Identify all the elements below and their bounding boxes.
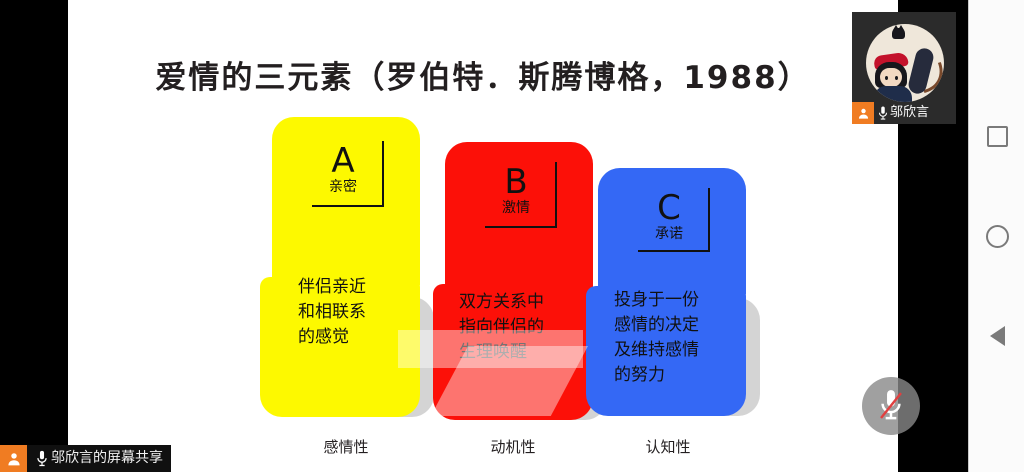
square-icon [987, 126, 1008, 147]
card-c-letter: C [630, 190, 708, 226]
card-a-sublabel: 亲密 [304, 179, 382, 196]
card-c-description: 投身于一份 感情的决定 及维持感情 的努力 [614, 288, 754, 388]
microphone-icon [35, 450, 49, 468]
card-b-sublabel: 激情 [477, 200, 555, 217]
avatar-face [880, 68, 902, 87]
card-a-rule-horizontal [312, 205, 384, 207]
triangle-back-icon [990, 326, 1005, 346]
diagram-card-a: A 亲密 伴侣亲近 和相联系 的感觉 [260, 117, 430, 417]
card-c-tag: C 承诺 [630, 190, 708, 243]
mute-microphone-button[interactable] [862, 377, 920, 435]
card-c-rule-vertical [708, 188, 710, 252]
person-icon [852, 102, 874, 124]
card-b-tag: B 激情 [477, 164, 555, 217]
shared-screen-slide: 爱情的三元素（罗伯特．斯腾博格，1988） A 亲密 伴侣亲近 和相联系 的感觉 [68, 0, 898, 472]
card-a-rule-vertical [382, 141, 384, 207]
person-icon [0, 445, 27, 472]
avatar [866, 24, 944, 102]
avatar-eye-right [895, 76, 898, 80]
circle-icon [986, 225, 1009, 248]
card-a-letter: A [304, 143, 382, 179]
card-c-rule-horizontal [638, 250, 710, 252]
nav-recents-button[interactable] [969, 108, 1024, 164]
avatar-eye-left [885, 76, 888, 80]
card-b-description: 双方关系中 指向伴侣的 生理唤醒 [459, 290, 599, 365]
diagram-card-c: C 承诺 投身于一份 感情的决定 及维持感情 的努力 [586, 168, 756, 416]
participant-video-tile[interactable]: 邬欣言 [852, 12, 956, 124]
screen-share-banner[interactable]: 邬欣言的屏幕共享 [0, 445, 171, 472]
axis-label-a: 感情性 [266, 436, 426, 457]
axis-label-b: 动机性 [433, 436, 593, 457]
device-screen: 爱情的三元素（罗伯特．斯腾博格，1988） A 亲密 伴侣亲近 和相联系 的感觉 [0, 0, 1024, 472]
card-b-letter: B [477, 164, 555, 200]
avatar-torso [874, 86, 912, 102]
participant-name: 邬欣言 [890, 102, 929, 124]
microphone-icon [877, 106, 889, 121]
card-a-description: 伴侣亲近 和相联系 的感觉 [298, 275, 418, 350]
nav-back-button[interactable] [969, 308, 1024, 364]
share-banner-label: 邬欣言的屏幕共享 [49, 445, 171, 472]
page-title: 爱情的三元素（罗伯特．斯腾博格，1988） [68, 52, 898, 97]
cat-icon [892, 28, 905, 39]
video-tile-footer: 邬欣言 [852, 102, 956, 124]
android-navigation-bar [968, 0, 1024, 472]
nav-home-button[interactable] [969, 208, 1024, 264]
microphone-muted-icon [876, 389, 906, 423]
diagram-card-b: B 激情 双方关系中 指向伴侣的 生理唤醒 [433, 142, 603, 420]
card-b-rule-horizontal [485, 226, 557, 228]
card-c-sublabel: 承诺 [630, 226, 708, 243]
axis-label-c: 认知性 [588, 436, 748, 457]
card-b-rule-vertical [555, 162, 557, 228]
card-a-tag: A 亲密 [304, 143, 382, 196]
